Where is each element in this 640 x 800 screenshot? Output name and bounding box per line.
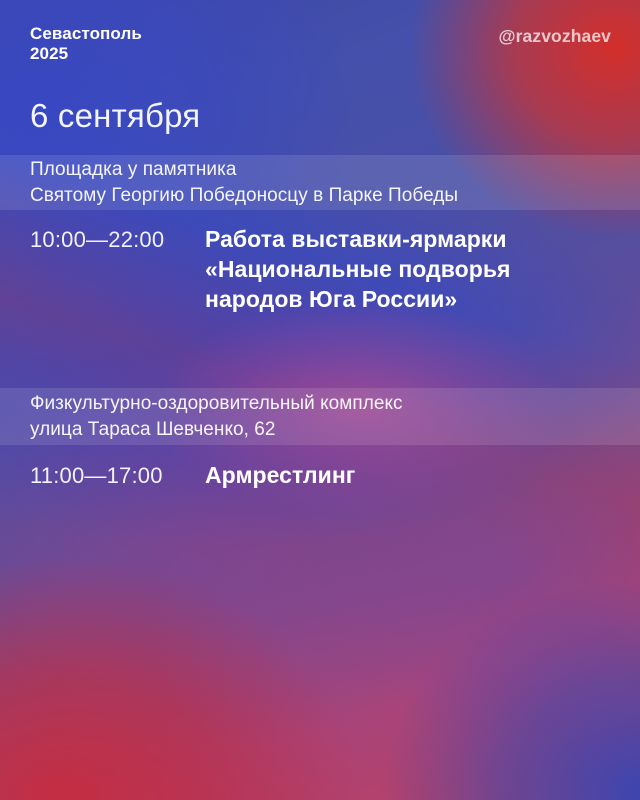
event-poster: Севастополь 2025 @razvozhaev 6 сентября … — [0, 0, 640, 800]
venue-name: Площадка у памятника Святому Георгию Поб… — [0, 157, 482, 208]
poster-content: Севастополь 2025 @razvozhaev 6 сентября … — [0, 0, 640, 800]
event-title: Работа выставки-ярмарки «Национальные по… — [205, 225, 618, 315]
date-heading: 6 сентября — [30, 97, 200, 135]
event-row: 10:00—22:00 Работа выставки-ярмарки «Нац… — [30, 225, 618, 315]
event-title: Армрестлинг — [205, 461, 618, 491]
venue-header-band: Физкультурно-оздоровительный комплекс ул… — [0, 388, 640, 445]
venue-name: Физкультурно-оздоровительный комплекс ул… — [0, 391, 427, 442]
brand-title: Севастополь 2025 — [30, 24, 142, 64]
venue-header-band: Площадка у памятника Святому Георгию Поб… — [0, 155, 640, 210]
event-time: 10:00—22:00 — [30, 225, 205, 254]
event-row: 11:00—17:00 Армрестлинг — [30, 461, 618, 491]
event-time: 11:00—17:00 — [30, 461, 205, 490]
social-handle[interactable]: @razvozhaev — [498, 26, 611, 47]
